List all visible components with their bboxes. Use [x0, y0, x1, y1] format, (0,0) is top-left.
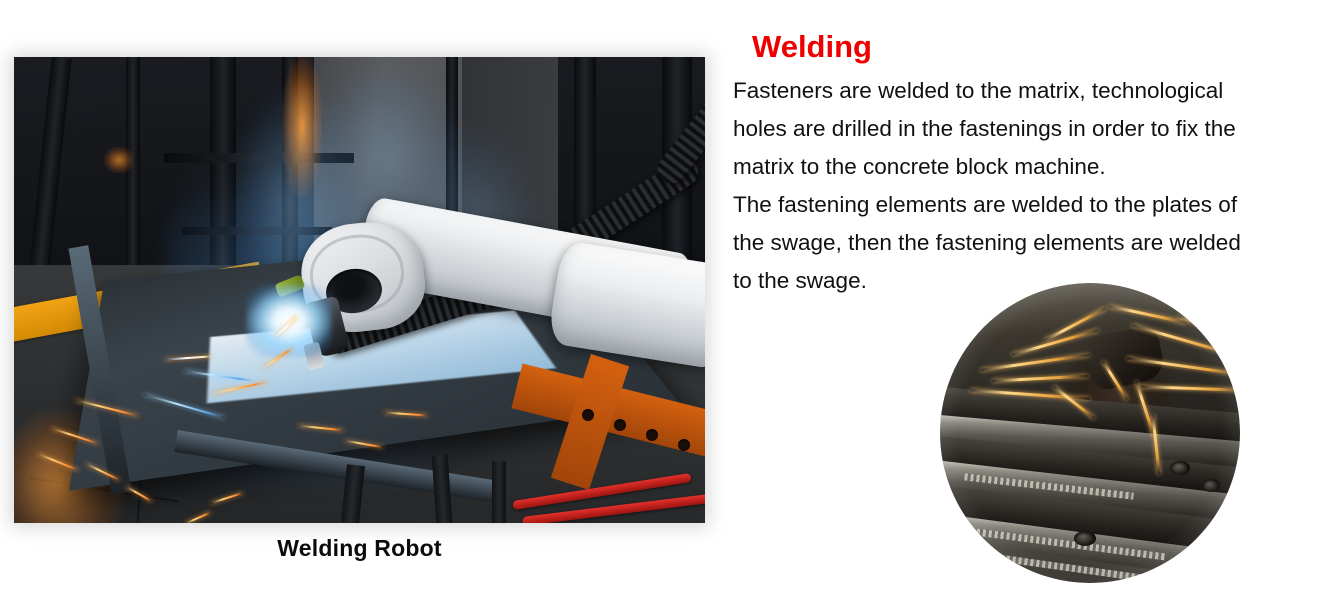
paragraph-1-line-1: Fasteners are welded to the matrix, tech… — [733, 72, 1333, 110]
plate-bolt-hole — [1074, 531, 1096, 546]
paragraph-1-line-2: holes are drilled in the fastenings in o… — [733, 110, 1333, 148]
paragraph-2-line-1: The fastening elements are welded to the… — [733, 186, 1333, 224]
steel-column — [574, 57, 596, 237]
welding-text-panel: Welding Fasteners are welded to the matr… — [733, 30, 1333, 300]
frame-bolt-hole — [582, 409, 594, 421]
plate-bolt-hole — [1202, 479, 1220, 492]
indicator-glow — [104, 147, 134, 173]
photo-caption: Welding Robot — [14, 535, 705, 562]
frame-bolt-hole — [646, 429, 658, 441]
welding-sparks-closeup-photo — [940, 283, 1240, 583]
paragraph-1-line-3: matrix to the concrete block machine. — [733, 148, 1333, 186]
section-title: Welding — [752, 30, 1333, 64]
welding-robot-figure — [14, 57, 705, 523]
table-leg — [492, 461, 506, 523]
plate-bolt-hole — [1170, 461, 1190, 475]
welding-robot-photo — [14, 57, 705, 523]
frame-bolt-hole — [678, 439, 690, 451]
frame-bolt-hole — [614, 419, 626, 431]
paragraph-2-line-2: the swage, then the fastening elements a… — [733, 224, 1333, 262]
